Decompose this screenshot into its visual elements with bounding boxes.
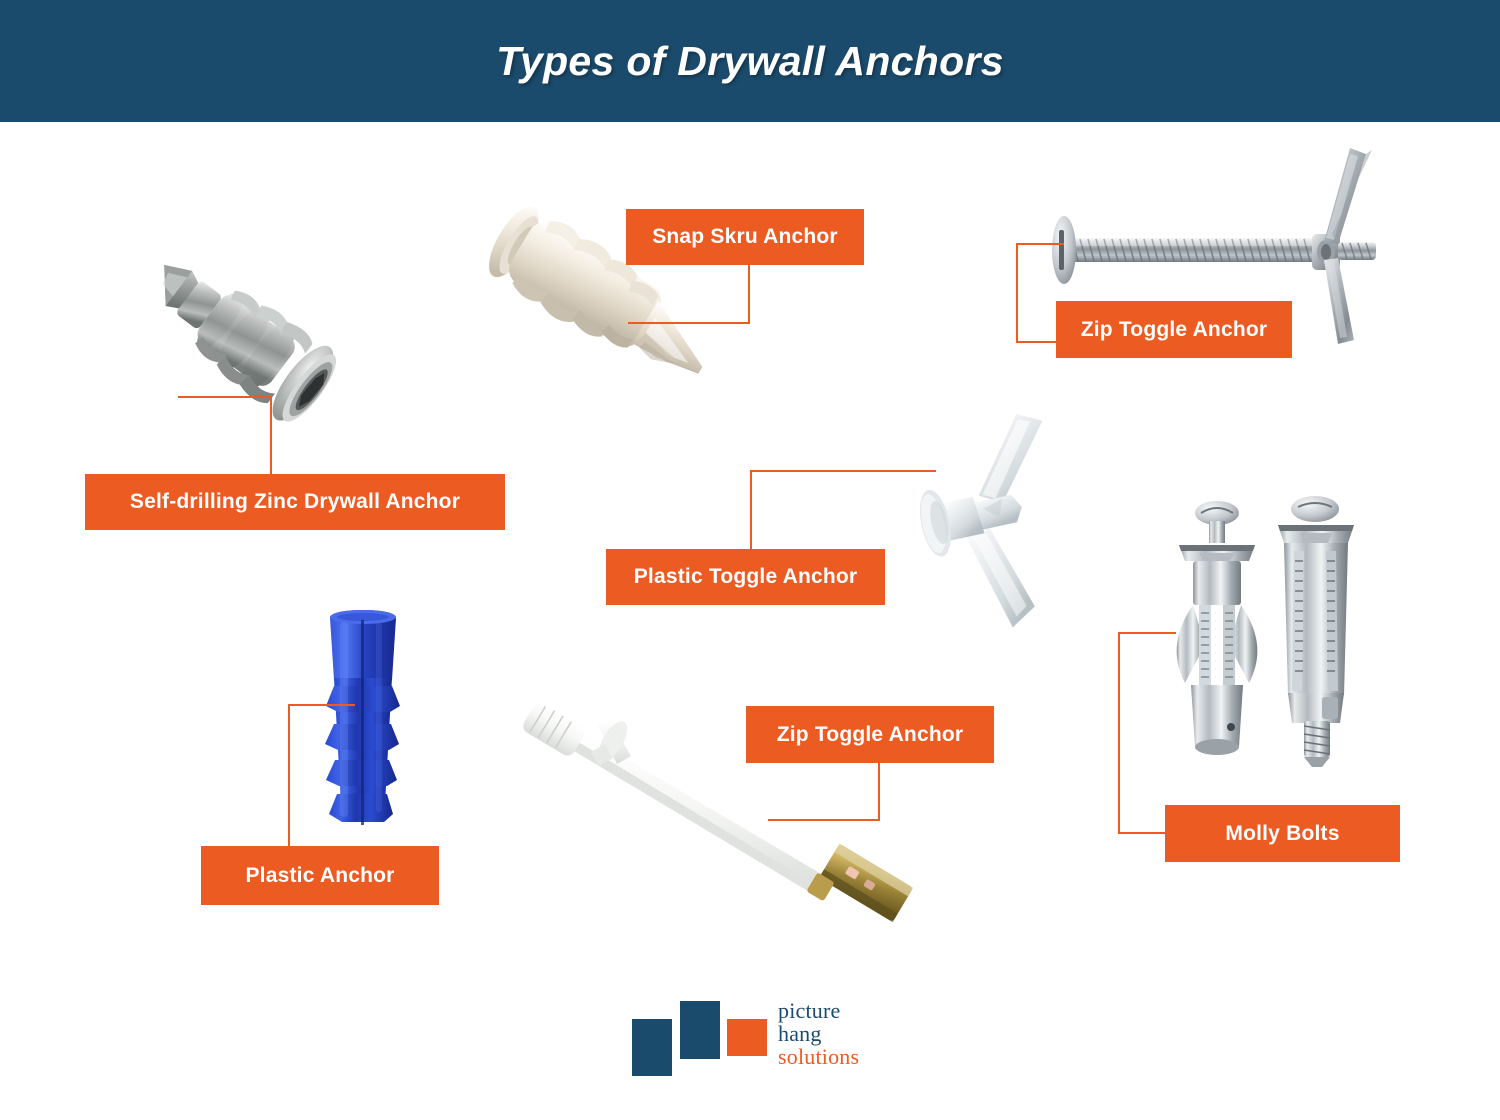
connector-molly-horizontal-upper	[1118, 632, 1176, 634]
connector-snap-skru-vertical	[748, 264, 750, 324]
connector-plastic-toggle-horizontal	[750, 470, 936, 472]
connector-zip-toggle-top-horizontal-lower	[1016, 341, 1060, 343]
connector-self-drilling-horizontal	[178, 396, 272, 398]
brand-logo[interactable]: picture hang solutions	[630, 995, 880, 1085]
connector-zip-toggle-top-vertical	[1016, 243, 1018, 342]
label-plastic-toggle-anchor[interactable]: Plastic Toggle Anchor	[606, 549, 885, 605]
connector-zip-toggle-top-horizontal-upper	[1016, 243, 1064, 245]
label-molly-bolts[interactable]: Molly Bolts	[1165, 805, 1400, 862]
logo-line-picture: picture	[778, 999, 859, 1022]
connector-zip-toggle-bottom-horizontal	[768, 819, 880, 821]
label-snap-skru-anchor[interactable]: Snap Skru Anchor	[626, 209, 864, 265]
logo-line-solutions: solutions	[778, 1045, 859, 1068]
label-zip-toggle-anchor-bottom[interactable]: Zip Toggle Anchor	[746, 706, 994, 763]
connector-self-drilling-vertical	[270, 396, 272, 476]
connector-snap-skru-horizontal	[628, 322, 750, 324]
label-zip-toggle-anchor-top[interactable]: Zip Toggle Anchor	[1056, 301, 1292, 358]
logo-wordmark: picture hang solutions	[778, 999, 859, 1068]
infographic-canvas: Types of Drywall Anchors	[0, 0, 1500, 1120]
logo-bar-1	[632, 1019, 672, 1076]
product-image-plastic-toggle-anchor	[890, 408, 1090, 653]
product-image-self-drilling-zinc-anchor	[120, 245, 370, 440]
connector-plastic-toggle-vertical	[750, 470, 752, 550]
product-image-molly-bolts	[1165, 495, 1380, 775]
logo-line-hang: hang	[778, 1022, 859, 1045]
page-title: Types of Drywall Anchors	[0, 0, 1500, 122]
label-self-drilling-zinc-drywall-anchor[interactable]: Self-drilling Zinc Drywall Anchor	[85, 474, 505, 530]
connector-zip-toggle-bottom-vertical	[878, 763, 880, 820]
connector-molly-vertical	[1118, 632, 1120, 833]
connector-plastic-anchor-vertical	[288, 704, 290, 846]
logo-bar-2	[680, 1001, 720, 1059]
logo-bar-3	[727, 1019, 767, 1056]
label-plastic-anchor[interactable]: Plastic Anchor	[201, 846, 439, 905]
product-image-plastic-anchor	[318, 608, 408, 843]
connector-plastic-anchor-horizontal	[288, 704, 355, 706]
